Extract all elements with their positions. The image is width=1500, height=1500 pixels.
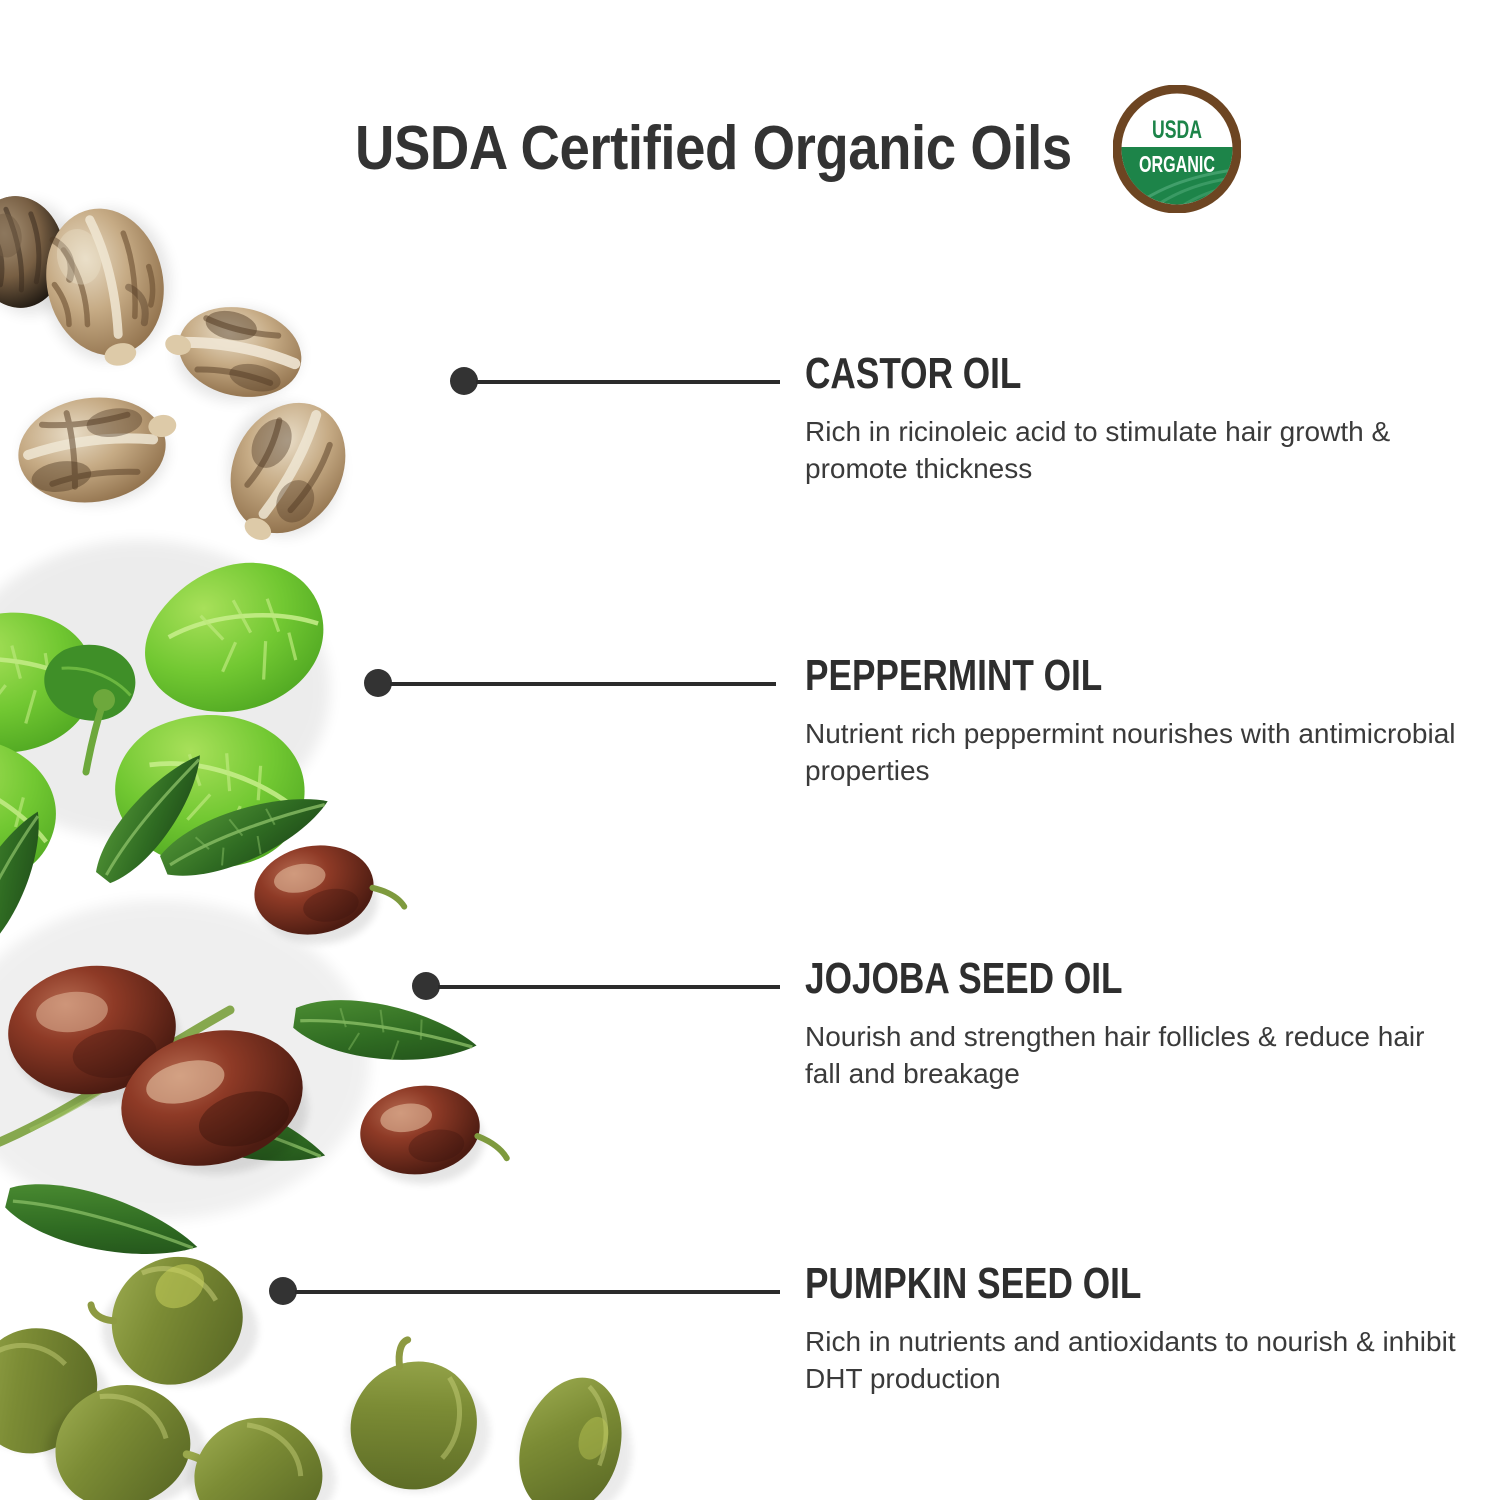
leader-dot-jojoba-seed-oil (412, 972, 440, 1000)
page-title: USDA Certified Organic Oils (355, 118, 1072, 180)
callout-title-pumpkin-seed-oil: PUMPKIN SEED OIL (805, 1262, 1301, 1307)
callout-title-castor-oil: CASTOR OIL (805, 352, 1301, 397)
seal-top-text: USDA (1152, 116, 1202, 144)
callout-title-jojoba-seed-oil: JOJOBA SEED OIL (805, 957, 1301, 1002)
seal-bottom-text: ORGANIC (1139, 151, 1215, 177)
jojoba-fruit-photo (0, 741, 507, 1273)
leader-line-castor-oil (450, 366, 780, 396)
leader-stroke-peppermint-oil (390, 682, 776, 686)
callout-description-pumpkin-seed-oil: Rich in nutrients and antioxidants to no… (805, 1323, 1465, 1397)
usda-organic-seal-icon: USDA ORGANIC (1113, 85, 1241, 213)
leader-line-jojoba-seed-oil (412, 971, 780, 1001)
callout-title-peppermint-oil: PEPPERMINT OIL (805, 654, 1301, 699)
pumpkin-seeds-photo (0, 1232, 639, 1500)
peppermint-leaves-photo (0, 540, 331, 911)
leader-dot-pumpkin-seed-oil (269, 1277, 297, 1305)
leader-dot-peppermint-oil (364, 669, 392, 697)
infographic-canvas: USDA Certified Organic Oils USDA ORGANIC… (0, 0, 1500, 1500)
leader-stroke-pumpkin-seed-oil (295, 1290, 780, 1294)
leader-line-peppermint-oil (364, 668, 776, 698)
botanical-artwork (0, 0, 660, 1500)
callout-description-castor-oil: Rich in ricinoleic acid to stimulate hai… (805, 413, 1465, 487)
leader-stroke-castor-oil (476, 380, 780, 384)
castor-seeds-photo (0, 190, 368, 562)
leader-dot-castor-oil (450, 367, 478, 395)
leader-line-pumpkin-seed-oil (269, 1276, 780, 1306)
leader-stroke-jojoba-seed-oil (438, 985, 780, 989)
callout-description-peppermint-oil: Nutrient rich peppermint nourishes with … (805, 715, 1465, 789)
callout-description-jojoba-seed-oil: Nourish and strengthen hair follicles & … (805, 1018, 1465, 1092)
page-header: USDA Certified Organic Oils USDA ORGANIC (355, 86, 1255, 211)
